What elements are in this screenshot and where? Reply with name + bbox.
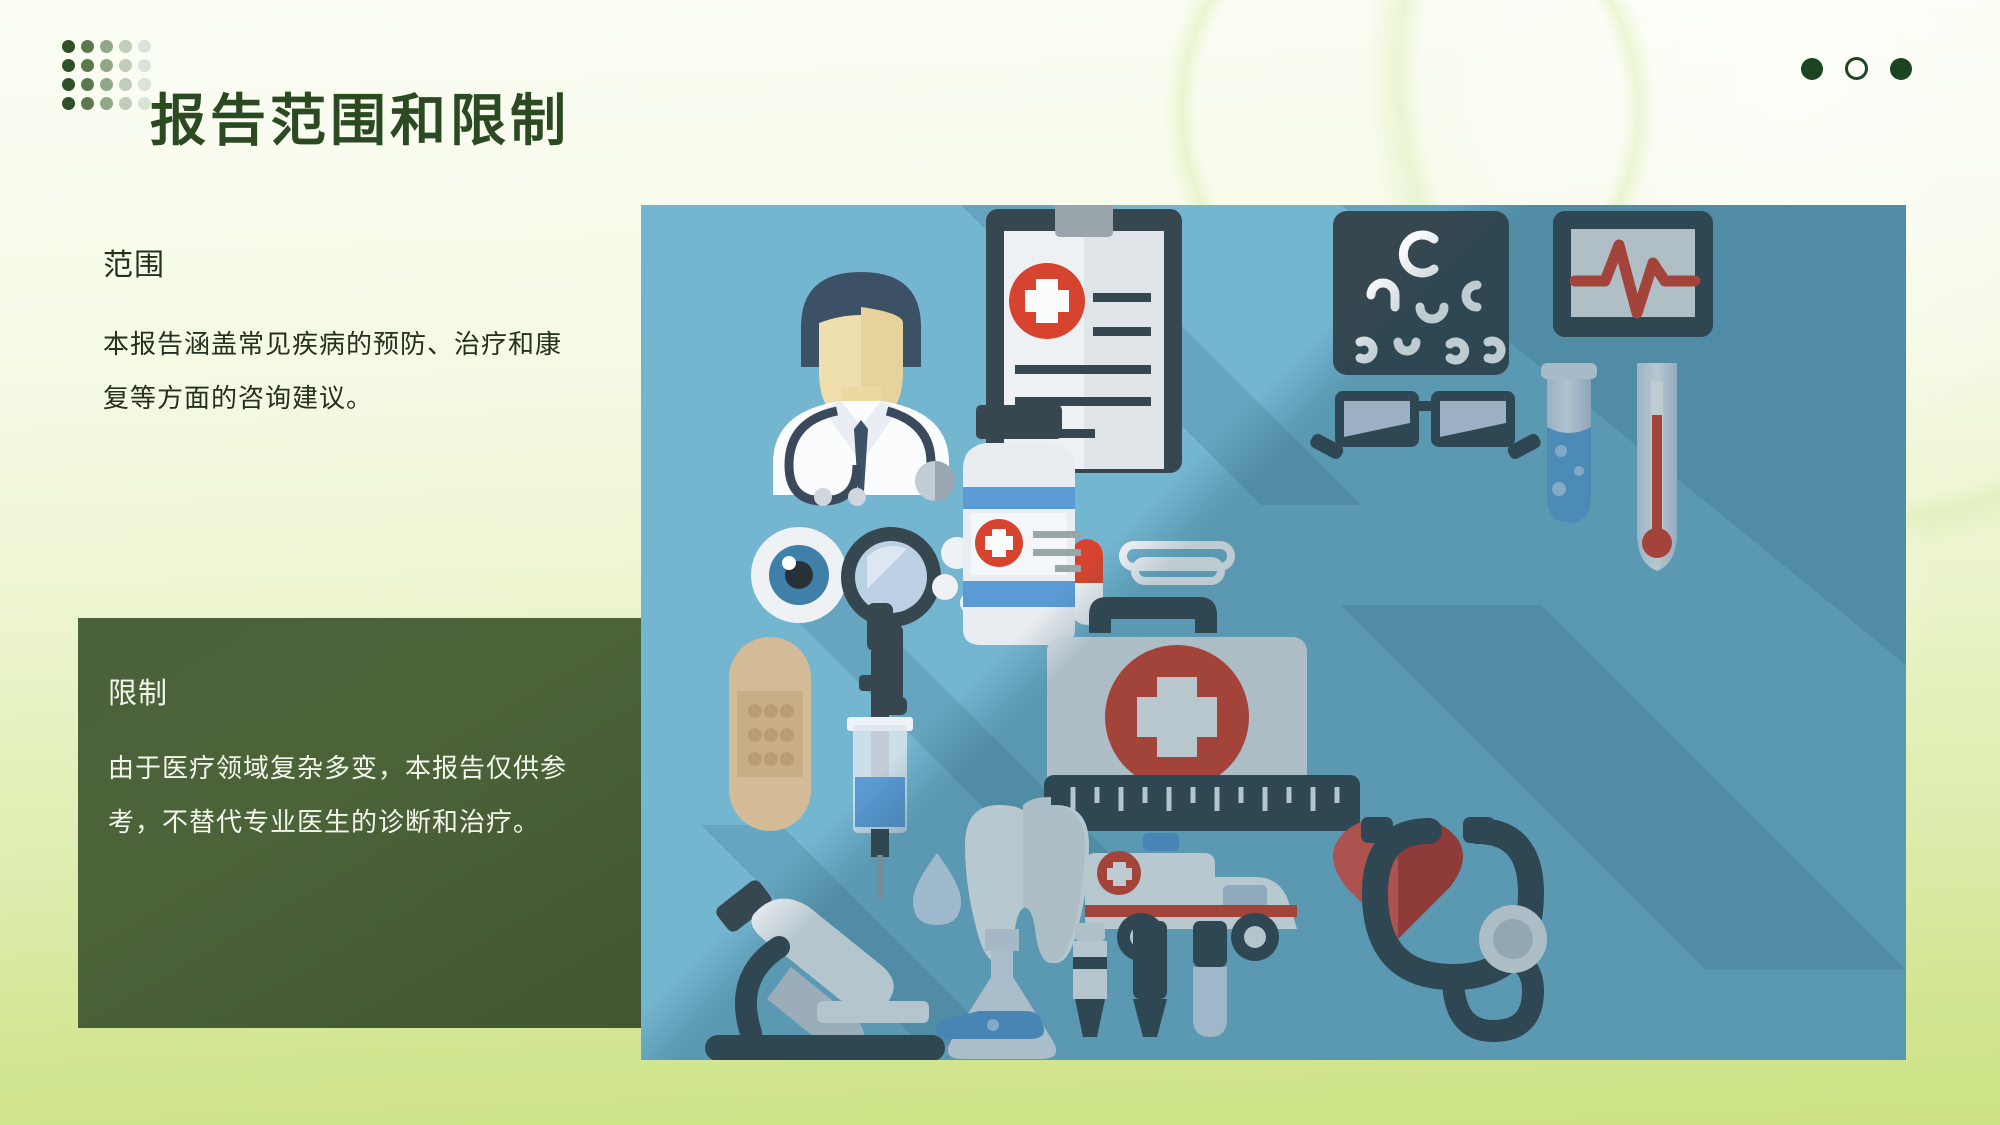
slide-root: 报告范围和限制 范围 本报告涵盖常见疾病的预防、治疗和康复等方面的咨询建议。 限…	[0, 0, 2000, 1125]
limits-body: 由于医疗领域复杂多变，本报告仅供参考，不替代专业医生的诊断和治疗。	[108, 742, 608, 850]
thermometer-icon	[1637, 363, 1677, 571]
indicator-dot-filled-3[interactable]	[1890, 58, 1912, 80]
ecg-monitor-icon	[1553, 211, 1713, 337]
ruler-icon	[1044, 775, 1360, 831]
bandage-strip-icon	[729, 637, 811, 831]
medical-illustration-panel	[641, 205, 1906, 1060]
slide-indicator-dots[interactable]	[1801, 57, 1912, 80]
test-tube-icon	[1541, 363, 1597, 523]
scope-block: 范围 本报告涵盖常见疾病的预防、治疗和康复等方面的咨询建议。	[103, 240, 573, 426]
page-title: 报告范围和限制	[150, 76, 570, 157]
eye-chart-icon	[1333, 211, 1509, 375]
indicator-dot-filled-1[interactable]	[1801, 58, 1823, 80]
marker-icon	[1193, 921, 1227, 1037]
limits-heading: 限制	[108, 670, 608, 712]
scope-heading: 范围	[103, 240, 573, 284]
slide-header: 报告范围和限制	[0, 0, 2000, 150]
limits-card-content: 限制 由于医疗领域复杂多变，本报告仅供参考，不替代专业医生的诊断和治疗。	[108, 670, 608, 850]
eye-icon	[751, 527, 847, 623]
indicator-dot-hollow-2[interactable]	[1845, 57, 1868, 80]
scope-body: 本报告涵盖常见疾病的预防、治疗和康复等方面的咨询建议。	[103, 318, 573, 426]
limits-card: 限制 由于医疗领域复杂多变，本报告仅供参考，不替代专业医生的诊断和治疗。	[78, 618, 728, 1028]
medical-icons-collage	[641, 205, 1906, 1060]
decorative-dot-grid-icon	[62, 40, 157, 116]
